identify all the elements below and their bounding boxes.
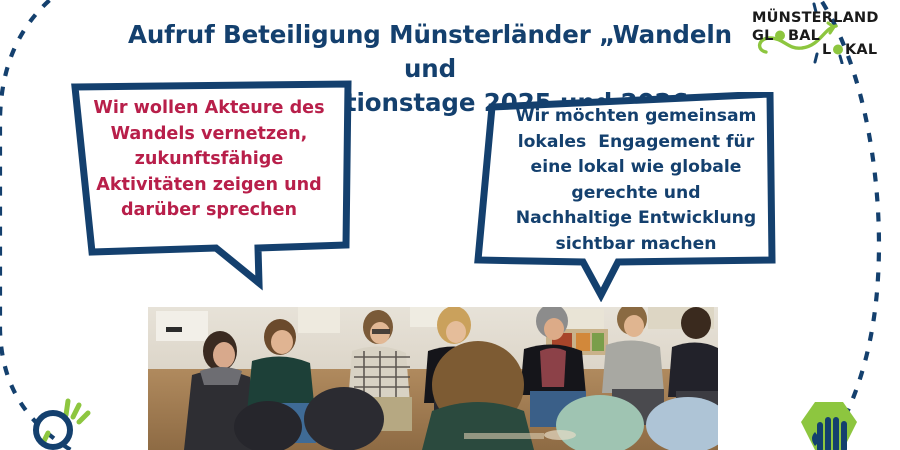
hand-hexagon-icon [795, 400, 867, 450]
logo-svg: MÜNSTERLAND GL BAL L KAL [744, 2, 896, 64]
logo-line-2-post: BAL [788, 28, 820, 44]
logo-line-3-post: KAL [845, 42, 877, 58]
logo-o-dot-lokal [833, 45, 843, 55]
group-discussion-photo-svg [148, 307, 718, 450]
lightbulb-icon-svg [26, 385, 100, 450]
speech-bubble-right[interactable]: Wir möchten gemeinsam lokales Engagement… [470, 92, 782, 302]
logo-line-1: MÜNSTERLAND [752, 8, 879, 26]
page-title-line-1: Aufruf Beteiligung Münsterländer „Wandel… [120, 18, 740, 86]
logo-muensterland-global-lokal[interactable]: MÜNSTERLAND GL BAL L KAL [744, 2, 896, 64]
speech-bubble-left-text: Wir wollen Akteure des Wandels vernetzen… [86, 96, 332, 224]
lightbulb-icon [26, 385, 100, 450]
logo-line-3-pre: L [822, 42, 831, 58]
slide-canvas: Aufruf Beteiligung Münsterländer „Wandel… [0, 0, 900, 450]
hand-hexagon-icon-svg [795, 400, 867, 450]
logo-line-2-pre: GL [752, 28, 774, 44]
logo-o-dot-global [775, 31, 785, 41]
group-discussion-photo [148, 307, 718, 450]
speech-bubble-right-text: Wir möchten gemeinsam lokales Engagement… [512, 104, 760, 257]
speech-bubble-left[interactable]: Wir wollen Akteure des Wandels vernetzen… [56, 80, 356, 295]
